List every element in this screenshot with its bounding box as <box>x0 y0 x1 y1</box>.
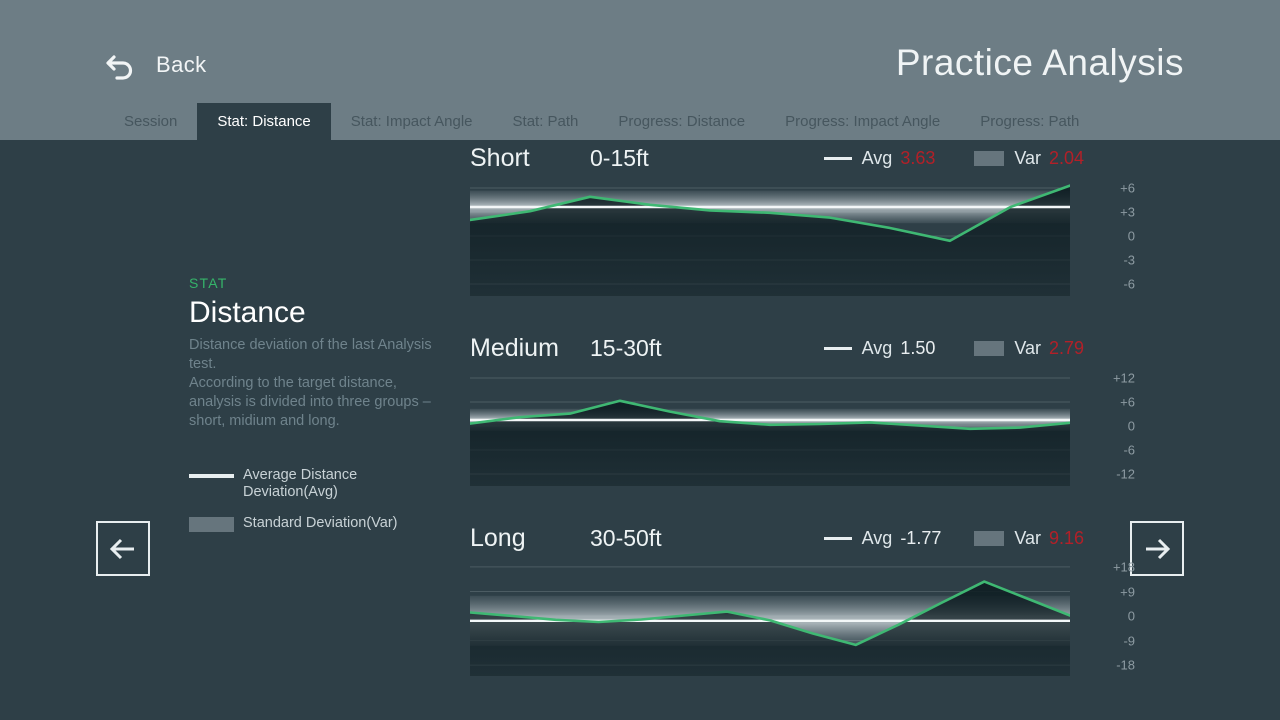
var-label: Var <box>1014 148 1041 169</box>
tab-progress-distance[interactable]: Progress: Distance <box>598 103 765 140</box>
chart-group-name: Short <box>470 144 590 173</box>
chart-group-name: Long <box>470 524 590 553</box>
line-chart <box>470 366 1070 486</box>
y-axis-tick-label: 0 <box>1075 609 1135 624</box>
stat-info-panel: STAT Distance Distance deviation of the … <box>189 275 439 431</box>
chart-summary-stats: Avg1.50Var2.79 <box>824 338 1140 359</box>
var-band-icon <box>974 151 1004 166</box>
chart-plot-area: +6+30-3-6 <box>470 176 1140 296</box>
stat-description-line: Distance deviation of the last Analysis … <box>189 336 439 374</box>
avg-value: 3.63 <box>900 148 946 169</box>
chart-plot-area: +12+60-6-12 <box>470 366 1140 486</box>
y-axis-tick-label: -3 <box>1075 253 1135 268</box>
y-axis-tick-label: -6 <box>1075 443 1135 458</box>
avg-line-icon <box>824 157 852 160</box>
avg-label: Avg <box>862 148 893 169</box>
main-content: STAT Distance Distance deviation of the … <box>0 140 1280 720</box>
y-axis-tick-label: +12 <box>1075 371 1135 386</box>
y-axis: +18+90-9-18 <box>1075 556 1140 676</box>
var-value: 9.16 <box>1049 528 1095 549</box>
avg-line-swatch-icon <box>189 474 234 478</box>
var-label: Var <box>1014 528 1041 549</box>
chart-group-short: Short0-15ftAvg3.63Var2.04+6+30-3-6 <box>470 140 1140 296</box>
y-axis-tick-label: -6 <box>1075 277 1135 292</box>
y-axis-tick-label: 0 <box>1075 229 1135 244</box>
chart-header: Short0-15ftAvg3.63Var2.04 <box>470 140 1140 176</box>
avg-line-icon <box>824 347 852 350</box>
legend: Average Distance Deviation(Avg)Standard … <box>189 467 449 546</box>
legend-item: Average Distance Deviation(Avg) <box>189 467 449 501</box>
var-band-icon <box>974 531 1004 546</box>
chart-group-name: Medium <box>470 334 590 363</box>
page-title: Practice Analysis <box>896 42 1184 84</box>
chart-group-medium: Medium15-30ftAvg1.50Var2.79+12+60-6-12 <box>470 330 1140 486</box>
avg-label: Avg <box>862 528 893 549</box>
practice-analysis-screen: Back Practice Analysis SessionStat: Dist… <box>0 0 1280 720</box>
tab-stat-path[interactable]: Stat: Path <box>493 103 599 140</box>
chart-distance-range: 15-30ft <box>590 335 820 362</box>
stat-title: Distance <box>189 296 439 330</box>
var-band-icon <box>974 341 1004 356</box>
previous-stat-button[interactable] <box>96 521 150 576</box>
y-axis-tick-label: +6 <box>1075 181 1135 196</box>
var-label: Var <box>1014 338 1041 359</box>
var-value: 2.04 <box>1049 148 1095 169</box>
y-axis-tick-label: -18 <box>1075 658 1135 673</box>
stat-kicker: STAT <box>189 275 439 291</box>
y-axis-tick-label: +9 <box>1075 584 1135 599</box>
y-axis-tick-label: -9 <box>1075 633 1135 648</box>
var-value: 2.79 <box>1049 338 1095 359</box>
var-band-swatch-icon <box>189 517 234 532</box>
y-axis: +6+30-3-6 <box>1075 176 1140 296</box>
avg-line-icon <box>824 537 852 540</box>
tab-progress-impact-angle[interactable]: Progress: Impact Angle <box>765 103 960 140</box>
chart-plot-area: +18+90-9-18 <box>470 556 1140 676</box>
legend-item-label: Average Distance Deviation(Avg) <box>243 467 449 501</box>
chart-header: Medium15-30ftAvg1.50Var2.79 <box>470 330 1140 366</box>
chart-distance-range: 30-50ft <box>590 525 820 552</box>
app-header: Back Practice Analysis <box>0 0 1280 103</box>
legend-item-label: Standard Deviation(Var) <box>243 515 397 532</box>
y-axis-tick-label: 0 <box>1075 419 1135 434</box>
avg-label: Avg <box>862 338 893 359</box>
stat-description: Distance deviation of the last Analysis … <box>189 336 439 431</box>
line-chart <box>470 176 1070 296</box>
chart-summary-stats: Avg-1.77Var9.16 <box>824 528 1140 549</box>
back-button[interactable]: Back <box>104 48 207 82</box>
stat-description-line: According to the target distance, analys… <box>189 374 439 431</box>
tab-progress-path[interactable]: Progress: Path <box>960 103 1099 140</box>
y-axis: +12+60-6-12 <box>1075 366 1140 486</box>
y-axis-tick-label: +18 <box>1075 559 1135 574</box>
tab-stat-impact-angle[interactable]: Stat: Impact Angle <box>331 103 493 140</box>
chart-distance-range: 0-15ft <box>590 145 820 172</box>
arrow-left-icon <box>108 536 138 562</box>
tab-stat-distance[interactable]: Stat: Distance <box>197 103 330 140</box>
chart-header: Long30-50ftAvg-1.77Var9.16 <box>470 520 1140 556</box>
y-axis-tick-label: +6 <box>1075 395 1135 410</box>
back-arrow-icon <box>104 48 138 82</box>
tab-session[interactable]: Session <box>104 103 197 140</box>
chart-summary-stats: Avg3.63Var2.04 <box>824 148 1140 169</box>
legend-item: Standard Deviation(Var) <box>189 515 449 532</box>
avg-value: -1.77 <box>900 528 946 549</box>
y-axis-tick-label: +3 <box>1075 205 1135 220</box>
back-label: Back <box>156 52 207 78</box>
y-axis-tick-label: -12 <box>1075 467 1135 482</box>
arrow-right-icon <box>1142 536 1172 562</box>
avg-value: 1.50 <box>900 338 946 359</box>
chart-group-long: Long30-50ftAvg-1.77Var9.16+18+90-9-18 <box>470 520 1140 676</box>
tab-bar: SessionStat: DistanceStat: Impact AngleS… <box>0 103 1280 140</box>
line-chart <box>470 556 1070 676</box>
